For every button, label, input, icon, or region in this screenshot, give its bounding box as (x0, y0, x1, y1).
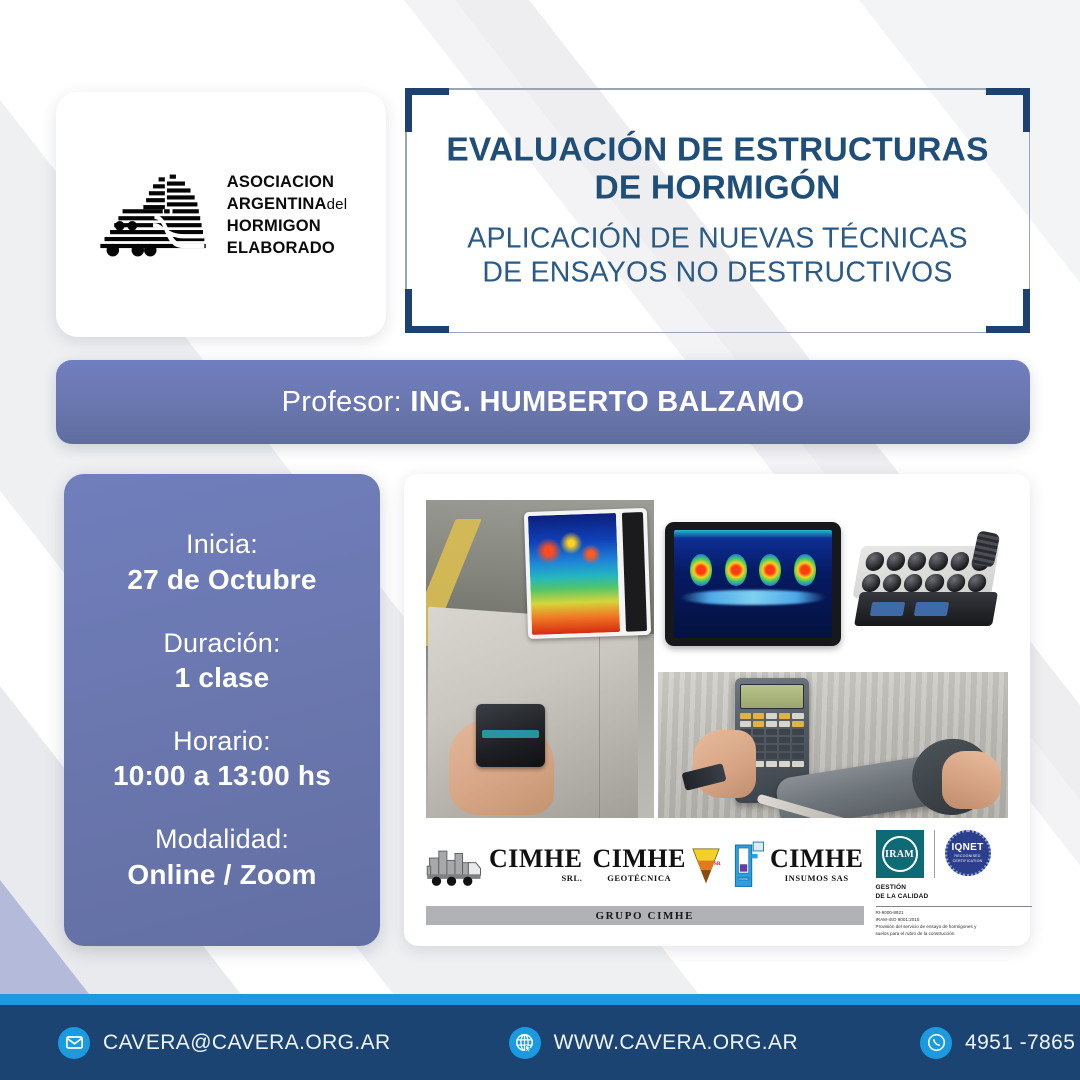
logo-line-2: ARGENTINAdel (227, 192, 348, 214)
footer-accent-stripe (0, 994, 1080, 1005)
mixer-truck-city-icon (426, 843, 484, 887)
professor-label: Profesor: (282, 386, 402, 418)
page-title: EVALUACIÓN DE ESTRUCTURAS DE HORMIGÓN (405, 131, 1030, 209)
contact-phone[interactable]: 4951 -7865 / 7543 (920, 1027, 1080, 1059)
course-details-panel: Inicia: 27 de Octubre Duración: 1 clase … (64, 474, 380, 946)
photo-tablet-gpr-on-concrete (426, 500, 654, 818)
phone-icon (920, 1027, 952, 1059)
contact-website[interactable]: WWW.CAVERA.ORG.AR (509, 1027, 798, 1059)
title-main-line-2: DE HORMIGÓN (405, 170, 1030, 209)
detail-horario-label: Horario: (113, 725, 331, 757)
iram-fine-line-3: Provisión del servicio de ensayo de horm… (876, 924, 1046, 931)
detail-modalidad-value: Online / Zoom (127, 857, 316, 892)
detail-inicia: Inicia: 27 de Octubre (127, 528, 316, 596)
iram-caption-line-1: GESTIÓN (876, 883, 1046, 892)
detail-horario: Horario: 10:00 a 13:00 hs (113, 725, 331, 793)
iram-fineprint: RI-9000-8921 IRAM-ISO 9001:2015 Provisió… (876, 910, 1046, 938)
sponsor-strip: CIMHE SRL. CIMHE GEOTÉCNICA SRL (426, 830, 1008, 938)
contact-email-text: CAVERA@CAVERA.ORG.AR (103, 1031, 391, 1055)
iqnet-sub-1: RECOGNISED (954, 854, 980, 858)
sponsor-cimhe-srl: CIMHE SRL. (426, 843, 583, 887)
iram-mark: IRAM (885, 849, 914, 860)
iram-fine-line-4: suelos para el rubro de la construcción (876, 931, 1046, 938)
iram-divider (876, 906, 1032, 907)
certification-block: IRAM IQNET RECOGNISED CERTIFICATION GEST… (864, 830, 1046, 937)
professor-name: ING. HUMBERTO BALZAMO (410, 386, 804, 418)
contact-website-text: WWW.CAVERA.ORG.AR (554, 1031, 798, 1055)
contact-phone-text: 4951 -7865 / 7543 (965, 1031, 1080, 1055)
photo-datalogger-and-probe (658, 672, 1008, 818)
iram-fine-line-1: RI-9000-8921 (876, 910, 1046, 917)
detail-horario-value: 10:00 a 13:00 hs (113, 758, 331, 793)
professor-banner: Profesor: ING. HUMBERTO BALZAMO (56, 360, 1030, 444)
sponsor-1-word: CIMHE (489, 847, 583, 870)
media-and-sponsors-card: CIMHE SRL. CIMHE GEOTÉCNICA SRL (404, 474, 1030, 946)
title-sub-line-1: APLICACIÓN DE NUEVAS TÉCNICAS (405, 222, 1030, 256)
sponsor-3-sub: INSUMOS SAS (785, 873, 849, 883)
svg-text:CIMHE: CIMHE (738, 877, 748, 881)
grupo-cimhe-label: GRUPO CIMHE (595, 910, 694, 922)
iram-logo-icon: IRAM (876, 830, 924, 878)
contact-footer: CAVERA@CAVERA.ORG.AR WWW.CAVERA.ORG.AR 4… (0, 994, 1080, 1080)
iqnet-name: IQNET (951, 843, 983, 853)
sponsor-cimhe-geotecnica: CIMHE GEOTÉCNICA SRL (593, 846, 722, 884)
testing-machine-icon: CIMHE (731, 840, 765, 890)
detail-duracion-value: 1 clase (163, 660, 280, 695)
iram-caption: GESTIÓN DE LA CALIDAD (876, 883, 1046, 902)
sponsor-2-word: CIMHE (593, 847, 687, 870)
iqnet-logo-icon: IQNET RECOGNISED CERTIFICATION (945, 830, 991, 876)
soil-cone-icon: SRL (691, 846, 721, 884)
photo-tablet-scan-and-array (658, 500, 1008, 668)
cavera-mixer-truck-logo-icon (95, 172, 213, 258)
title-sub-line-2: DE ENSAYOS NO DESTRUCTIVOS (405, 256, 1030, 290)
iram-fine-line-2: IRAM-ISO 9001:2015 (876, 917, 1046, 924)
logo-line-4: ELABORADO (227, 237, 348, 259)
svg-text:SRL: SRL (714, 861, 721, 867)
title-main-line-1: EVALUACIÓN DE ESTRUCTURAS (405, 131, 1030, 170)
detail-inicia-value: 27 de Octubre (127, 562, 316, 597)
grupo-cimhe-bar: GRUPO CIMHE (426, 906, 864, 925)
sponsor-cimhe-insumos: CIMHE CIMHE INSUMOS SAS (731, 840, 864, 890)
envelope-icon (58, 1027, 90, 1059)
course-title-block: EVALUACIÓN DE ESTRUCTURAS DE HORMIGÓN AP… (405, 88, 1030, 333)
contact-email[interactable]: CAVERA@CAVERA.ORG.AR (58, 1027, 391, 1059)
tablet-device-icon (524, 507, 651, 638)
tablet-scan-display-icon (665, 522, 841, 646)
cavera-logo-card: ASOCIACION ARGENTINAdel HORMIGON ELABORA… (56, 92, 386, 337)
page-subtitle: APLICACIÓN DE NUEVAS TÉCNICAS DE ENSAYOS… (405, 222, 1030, 290)
globe-icon (509, 1027, 541, 1059)
detail-inicia-label: Inicia: (127, 528, 316, 560)
sponsor-1-sub: SRL. (561, 873, 582, 883)
logo-line-3: HORMIGON (227, 215, 348, 237)
ultrasonic-array-probe-icon (851, 536, 1001, 632)
detail-modalidad: Modalidad: Online / Zoom (127, 823, 316, 891)
detail-duracion-label: Duración: (163, 627, 280, 659)
photo-collage (426, 500, 1008, 818)
sponsor-2-sub: GEOTÉCNICA (607, 873, 671, 883)
sponsor-3-word: CIMHE (770, 847, 864, 870)
cavera-logo-wordmark: ASOCIACION ARGENTINAdel HORMIGON ELABORA… (227, 170, 348, 258)
certification-divider (934, 830, 935, 878)
logo-line-1: ASOCIACION (227, 170, 348, 192)
iram-caption-line-2: DE LA CALIDAD (876, 892, 1046, 901)
iqnet-sub-2: CERTIFICATION (953, 859, 983, 863)
detail-duracion: Duración: 1 clase (163, 627, 280, 695)
detail-modalidad-label: Modalidad: (127, 823, 316, 855)
handheld-scanner-icon (476, 704, 544, 768)
